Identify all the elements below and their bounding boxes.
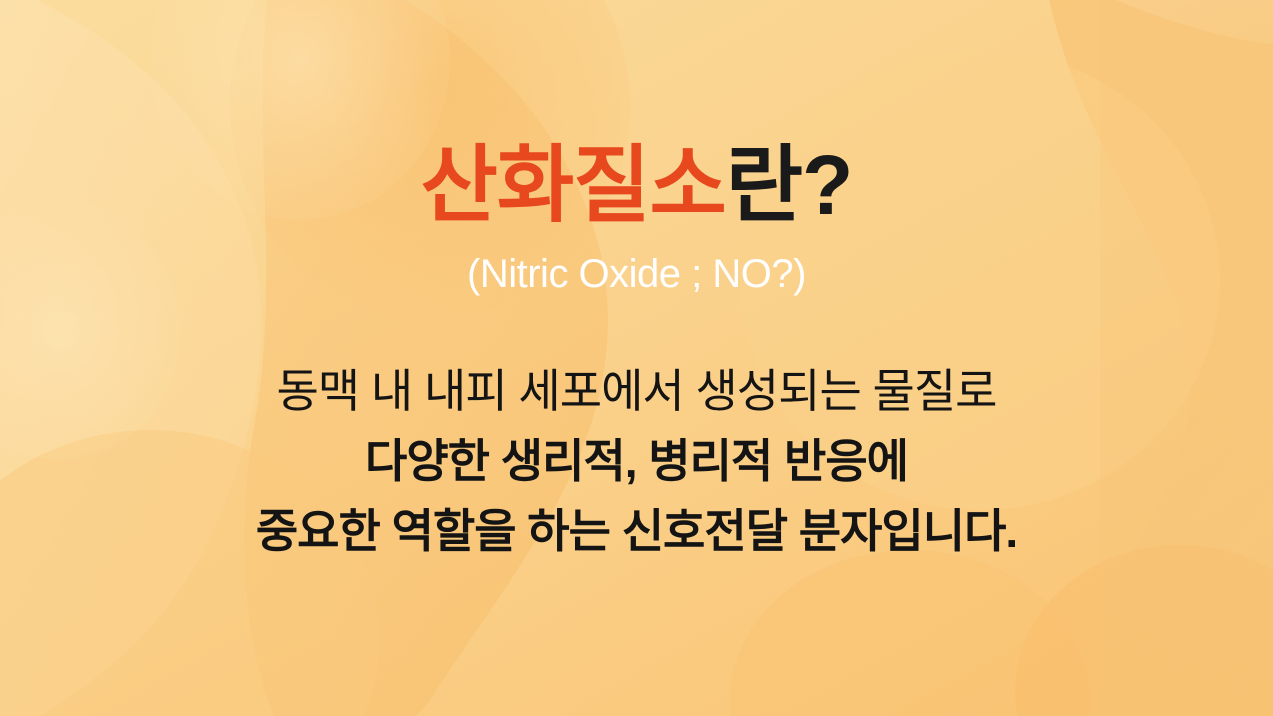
- body-line-3: 중요한 역할을 하는 신호전달 분자입니다.: [256, 497, 1017, 567]
- title-line: 산화질소란?: [421, 143, 853, 227]
- title-accent-text: 산화질소: [421, 138, 726, 232]
- body-line-2: 다양한 생리적, 병리적 반응에: [365, 427, 908, 497]
- subtitle-text: (Nitric Oxide ; NO?): [467, 253, 806, 295]
- slide-content: 산화질소란? (Nitric Oxide ; NO?) 동맥 내 내피 세포에서…: [0, 0, 1273, 716]
- page-title: 산화질소란?: [421, 143, 853, 227]
- body-line-1: 동맥 내 내피 세포에서 생성되는 물질로: [276, 357, 996, 427]
- body-text-block: 동맥 내 내피 세포에서 생성되는 물질로 다양한 생리적, 병리적 반응에 중…: [256, 357, 1017, 567]
- slide-canvas: 산화질소란? (Nitric Oxide ; NO?) 동맥 내 내피 세포에서…: [0, 0, 1273, 716]
- title-rest-text: 란?: [726, 138, 853, 232]
